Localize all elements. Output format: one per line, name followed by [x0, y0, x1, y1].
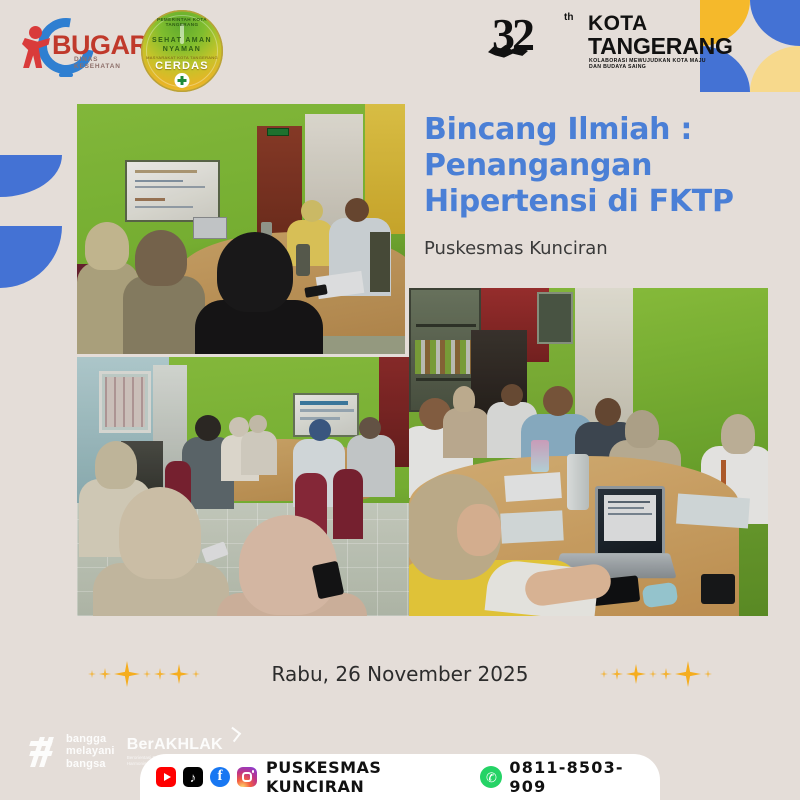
- sparkle-star-icon: [704, 670, 712, 678]
- photo3-tone: [409, 288, 768, 616]
- cerdas-badge-logo: PEMERINTAH KOTA TANGERANG SEHAT AMAN NYA…: [141, 10, 223, 92]
- photo-laptop-discussion: [409, 288, 768, 616]
- sparkle-star-icon: [660, 668, 672, 680]
- photo-wide-meeting-room: [77, 357, 409, 616]
- sparkle-star-icon: [626, 664, 646, 684]
- cerdas-medical-cross-icon: [175, 73, 190, 88]
- event-title-line-1: Bincang Ilmiah :: [424, 112, 780, 148]
- date-row: Rabu, 26 November 2025: [0, 652, 800, 696]
- event-title-line-3: Hipertensi di FKTP: [424, 184, 780, 220]
- bangga-line-3: bangsa: [66, 758, 115, 770]
- quarter-circle-blue: [750, 0, 800, 46]
- sparkle-star-icon: [99, 668, 111, 680]
- instagram-icon[interactable]: [237, 767, 257, 787]
- event-date: Rabu, 26 November 2025: [272, 662, 529, 686]
- photo-meeting-room-projector: [77, 104, 405, 354]
- footer-contact-bar: PUSKESMAS KUNCIRAN 0811-8503-909: [140, 754, 660, 800]
- blue-semicircle-decoration-top: [0, 155, 62, 197]
- bangga-line-2: melayani: [66, 745, 115, 757]
- sparkle-decoration-right: [600, 661, 712, 687]
- facebook-icon[interactable]: [210, 767, 230, 787]
- bugar-subtitle: DINAS KESEHATAN: [74, 56, 132, 70]
- tangerang-tagline: KOLABORASI MEWUJUDKAN KOTA MAJU DAN BUDA…: [589, 58, 712, 70]
- sparkle-star-icon: [675, 661, 701, 687]
- bugar-person-head-icon: [29, 26, 42, 39]
- youtube-icon[interactable]: [156, 767, 176, 787]
- berakhlak-wordmark: BerAKHLAK: [127, 736, 231, 754]
- event-title-line-2: Penangangan: [424, 148, 780, 184]
- bugar-bulb-base-1: [56, 68, 76, 72]
- anniversary-ordinal: th: [564, 12, 573, 23]
- sparkle-star-icon: [649, 670, 657, 678]
- event-title: Bincang Ilmiah : Penangangan Hipertensi …: [424, 112, 780, 220]
- sparkle-decoration-left: [88, 661, 200, 687]
- sparkle-star-icon: [88, 670, 96, 678]
- bugar-logo: BUGAR DINAS KESEHATAN: [12, 12, 132, 84]
- photo1-tone: [77, 104, 405, 354]
- cerdas-arc-text: PEMERINTAH KOTA TANGERANG: [141, 17, 223, 27]
- quarter-circle-light-yellow: [750, 46, 800, 92]
- cerdas-line-2: NYAMAN: [141, 46, 223, 53]
- cerdas-line-1: SEHAT AMAN: [141, 37, 223, 44]
- blue-semicircle-decoration-bottom: [0, 226, 62, 288]
- sparkle-star-icon: [192, 670, 200, 678]
- bangga-hash-icon: [28, 737, 54, 767]
- photo2-tone: [77, 357, 409, 616]
- tangerang-text: TANGERANG: [588, 33, 733, 60]
- event-subtitle: Puskesmas Kunciran: [424, 238, 780, 259]
- cerdas-line-4: CERDAS: [141, 60, 223, 72]
- bangga-text: bangga melayani bangsa: [66, 733, 115, 770]
- bangga-line-1: bangga: [66, 733, 115, 745]
- sparkle-star-icon: [143, 670, 151, 678]
- tiktok-icon[interactable]: [183, 767, 203, 787]
- kota-tangerang-anniversary-logo: 32 th KOTA TANGERANG KOLABORASI MEWUJUDK…: [492, 6, 712, 82]
- sparkle-star-icon: [611, 668, 623, 680]
- sparkle-star-icon: [154, 668, 166, 680]
- sparkle-star-icon: [600, 670, 608, 678]
- bugar-bulb-base-2: [59, 73, 73, 77]
- contact-phone-number: 0811-8503-909: [509, 758, 644, 796]
- whatsapp-icon[interactable]: [480, 766, 502, 788]
- sparkle-star-icon: [169, 664, 189, 684]
- social-account-name: PUSKESMAS KUNCIRAN: [266, 758, 461, 796]
- sparkle-star-icon: [114, 661, 140, 687]
- title-block: Bincang Ilmiah : Penangangan Hipertensi …: [424, 112, 780, 259]
